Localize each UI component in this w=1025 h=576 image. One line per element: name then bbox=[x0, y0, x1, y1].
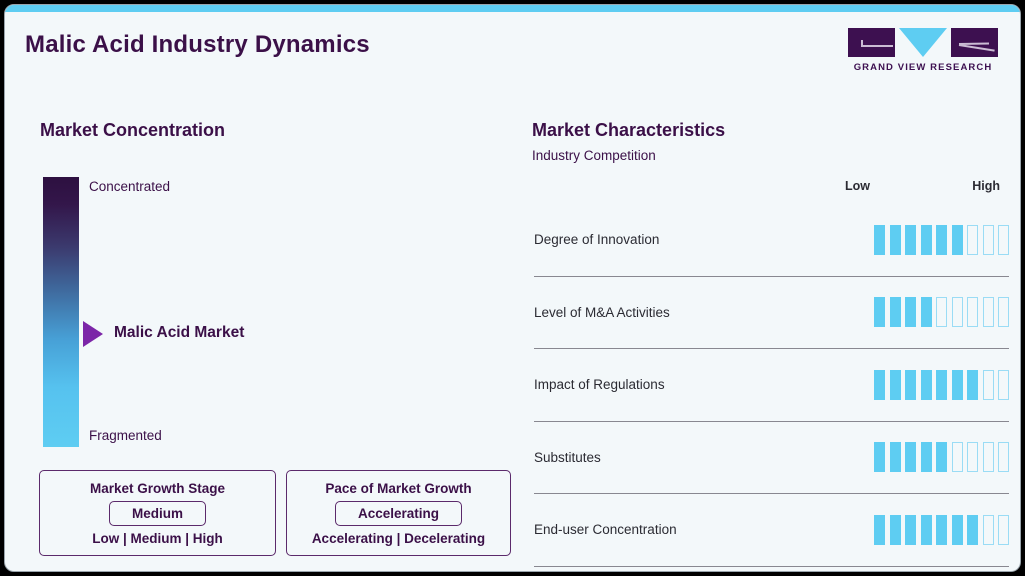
meter-tick-filled bbox=[952, 515, 963, 545]
infographic-card: Malic Acid Industry Dynamics GRAND VIEW … bbox=[4, 4, 1021, 572]
meter-tick-empty bbox=[967, 225, 978, 255]
meter-tick-empty bbox=[952, 297, 963, 327]
characteristic-row: Substitutes bbox=[534, 422, 1009, 495]
market-growth-stage-box: Market Growth Stage Medium Low | Medium … bbox=[39, 470, 276, 556]
meter-tick-filled bbox=[874, 297, 885, 327]
market-characteristics-title: Market Characteristics bbox=[532, 120, 725, 141]
meter-tick-filled bbox=[905, 442, 916, 472]
characteristic-row: End-user Concentration bbox=[534, 494, 1009, 567]
meter-tick-filled bbox=[952, 370, 963, 400]
meter-scale-header: Low High bbox=[845, 179, 1000, 193]
meter-tick-filled bbox=[890, 370, 901, 400]
meter-tick-filled bbox=[936, 442, 947, 472]
meter-tick-empty bbox=[998, 515, 1009, 545]
meter-tick-filled bbox=[921, 370, 932, 400]
meter-tick-filled bbox=[905, 370, 916, 400]
meter-tick-empty bbox=[983, 515, 994, 545]
meter-tick-filled bbox=[890, 297, 901, 327]
characteristic-row: Impact of Regulations bbox=[534, 349, 1009, 422]
meter-tick-empty bbox=[952, 442, 963, 472]
characteristic-row: Degree of Innovation bbox=[534, 204, 1009, 277]
meter-tick-filled bbox=[967, 370, 978, 400]
concentration-gradient-bar bbox=[43, 177, 79, 447]
meter-tick-empty bbox=[967, 297, 978, 327]
market-concentration-panel: Market Concentration Concentrated Fragme… bbox=[5, 5, 525, 571]
scale-label-fragmented: Fragmented bbox=[89, 428, 162, 443]
growth-stage-value: Medium bbox=[109, 501, 206, 526]
characteristic-meter bbox=[874, 515, 1009, 545]
meter-tick-filled bbox=[921, 225, 932, 255]
meter-tick-filled bbox=[890, 442, 901, 472]
characteristic-label: Impact of Regulations bbox=[534, 377, 874, 392]
meter-tick-filled bbox=[936, 370, 947, 400]
meter-tick-filled bbox=[921, 297, 932, 327]
meter-tick-filled bbox=[874, 225, 885, 255]
meter-tick-filled bbox=[874, 515, 885, 545]
meter-tick-filled bbox=[921, 442, 932, 472]
meter-tick-empty bbox=[983, 442, 994, 472]
market-concentration-title: Market Concentration bbox=[40, 120, 225, 141]
meter-tick-filled bbox=[936, 515, 947, 545]
meter-tick-empty bbox=[967, 442, 978, 472]
characteristic-row: Level of M&A Activities bbox=[534, 277, 1009, 350]
meter-tick-empty bbox=[983, 370, 994, 400]
scale-high-label: High bbox=[972, 179, 1000, 193]
market-position-marker-icon bbox=[83, 321, 103, 347]
market-characteristics-subtitle: Industry Competition bbox=[532, 148, 656, 163]
characteristic-label: Level of M&A Activities bbox=[534, 305, 874, 320]
meter-tick-empty bbox=[983, 297, 994, 327]
meter-tick-filled bbox=[890, 515, 901, 545]
meter-tick-filled bbox=[905, 515, 916, 545]
meter-tick-filled bbox=[967, 515, 978, 545]
characteristic-label: Substitutes bbox=[534, 450, 874, 465]
meter-tick-filled bbox=[952, 225, 963, 255]
meter-tick-empty bbox=[936, 297, 947, 327]
market-characteristics-panel: Market Characteristics Industry Competit… bbox=[525, 5, 1021, 571]
characteristic-meter bbox=[874, 370, 1009, 400]
characteristic-label: Degree of Innovation bbox=[534, 232, 874, 247]
market-growth-pace-box: Pace of Market Growth Accelerating Accel… bbox=[286, 470, 511, 556]
market-position-label: Malic Acid Market bbox=[114, 324, 244, 342]
meter-tick-empty bbox=[998, 225, 1009, 255]
scale-low-label: Low bbox=[845, 179, 870, 193]
meter-tick-empty bbox=[983, 225, 994, 255]
growth-pace-options: Accelerating | Decelerating bbox=[312, 531, 485, 546]
meter-tick-filled bbox=[921, 515, 932, 545]
meter-tick-filled bbox=[905, 297, 916, 327]
growth-stage-heading: Market Growth Stage bbox=[90, 481, 225, 496]
characteristic-label: End-user Concentration bbox=[534, 522, 874, 537]
growth-pace-value: Accelerating bbox=[335, 501, 462, 526]
characteristic-meter bbox=[874, 442, 1009, 472]
meter-tick-empty bbox=[998, 442, 1009, 472]
meter-tick-empty bbox=[998, 297, 1009, 327]
meter-tick-filled bbox=[874, 370, 885, 400]
characteristic-meter bbox=[874, 225, 1009, 255]
meter-tick-filled bbox=[890, 225, 901, 255]
meter-tick-filled bbox=[874, 442, 885, 472]
characteristic-meter bbox=[874, 297, 1009, 327]
characteristics-rows: Degree of InnovationLevel of M&A Activit… bbox=[534, 204, 1009, 567]
scale-label-concentrated: Concentrated bbox=[89, 179, 170, 194]
meter-tick-filled bbox=[936, 225, 947, 255]
growth-stage-options: Low | Medium | High bbox=[92, 531, 223, 546]
growth-pace-heading: Pace of Market Growth bbox=[325, 481, 471, 496]
meter-tick-empty bbox=[998, 370, 1009, 400]
meter-tick-filled bbox=[905, 225, 916, 255]
